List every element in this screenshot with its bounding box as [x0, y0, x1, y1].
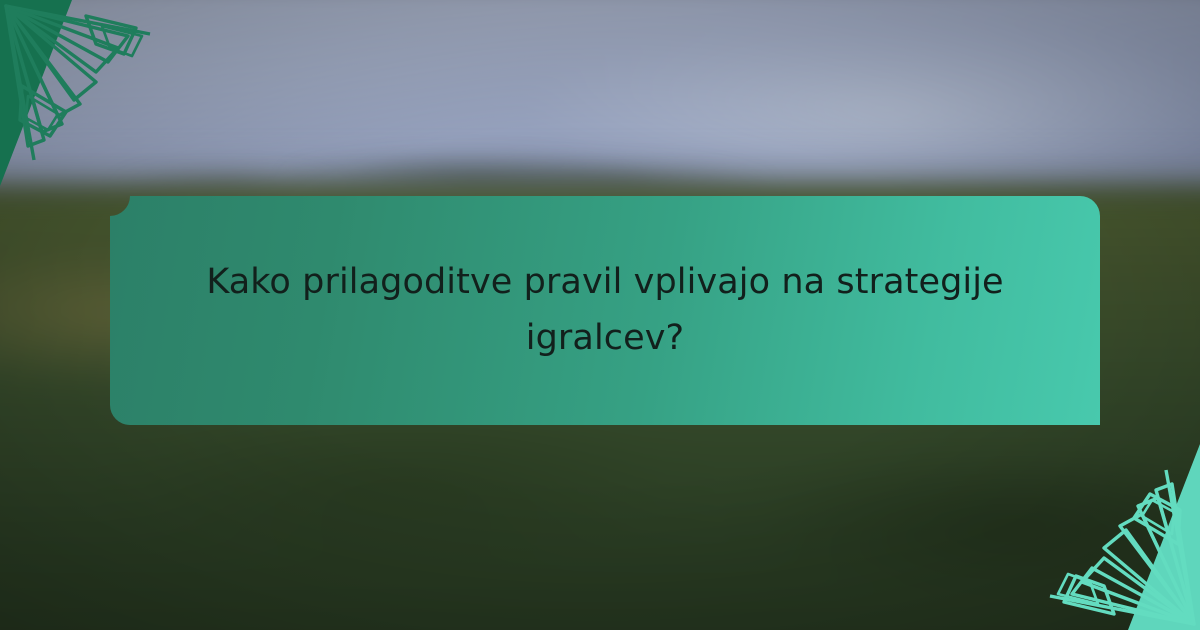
title-banner: Kako prilagoditve pravil vplivajo na str…: [110, 196, 1100, 425]
corner-ornament-top-left: [0, 0, 190, 190]
share-card-canvas: Kako prilagoditve pravil vplivajo na str…: [0, 0, 1200, 630]
title-line-1: Kako prilagoditve pravil vplivajo na str…: [206, 255, 1003, 310]
title-line-2: igralcev?: [526, 311, 684, 366]
corner-ornament-bottom-right: [1010, 440, 1200, 630]
title-text-block: Kako prilagoditve pravil vplivajo na str…: [110, 196, 1100, 425]
